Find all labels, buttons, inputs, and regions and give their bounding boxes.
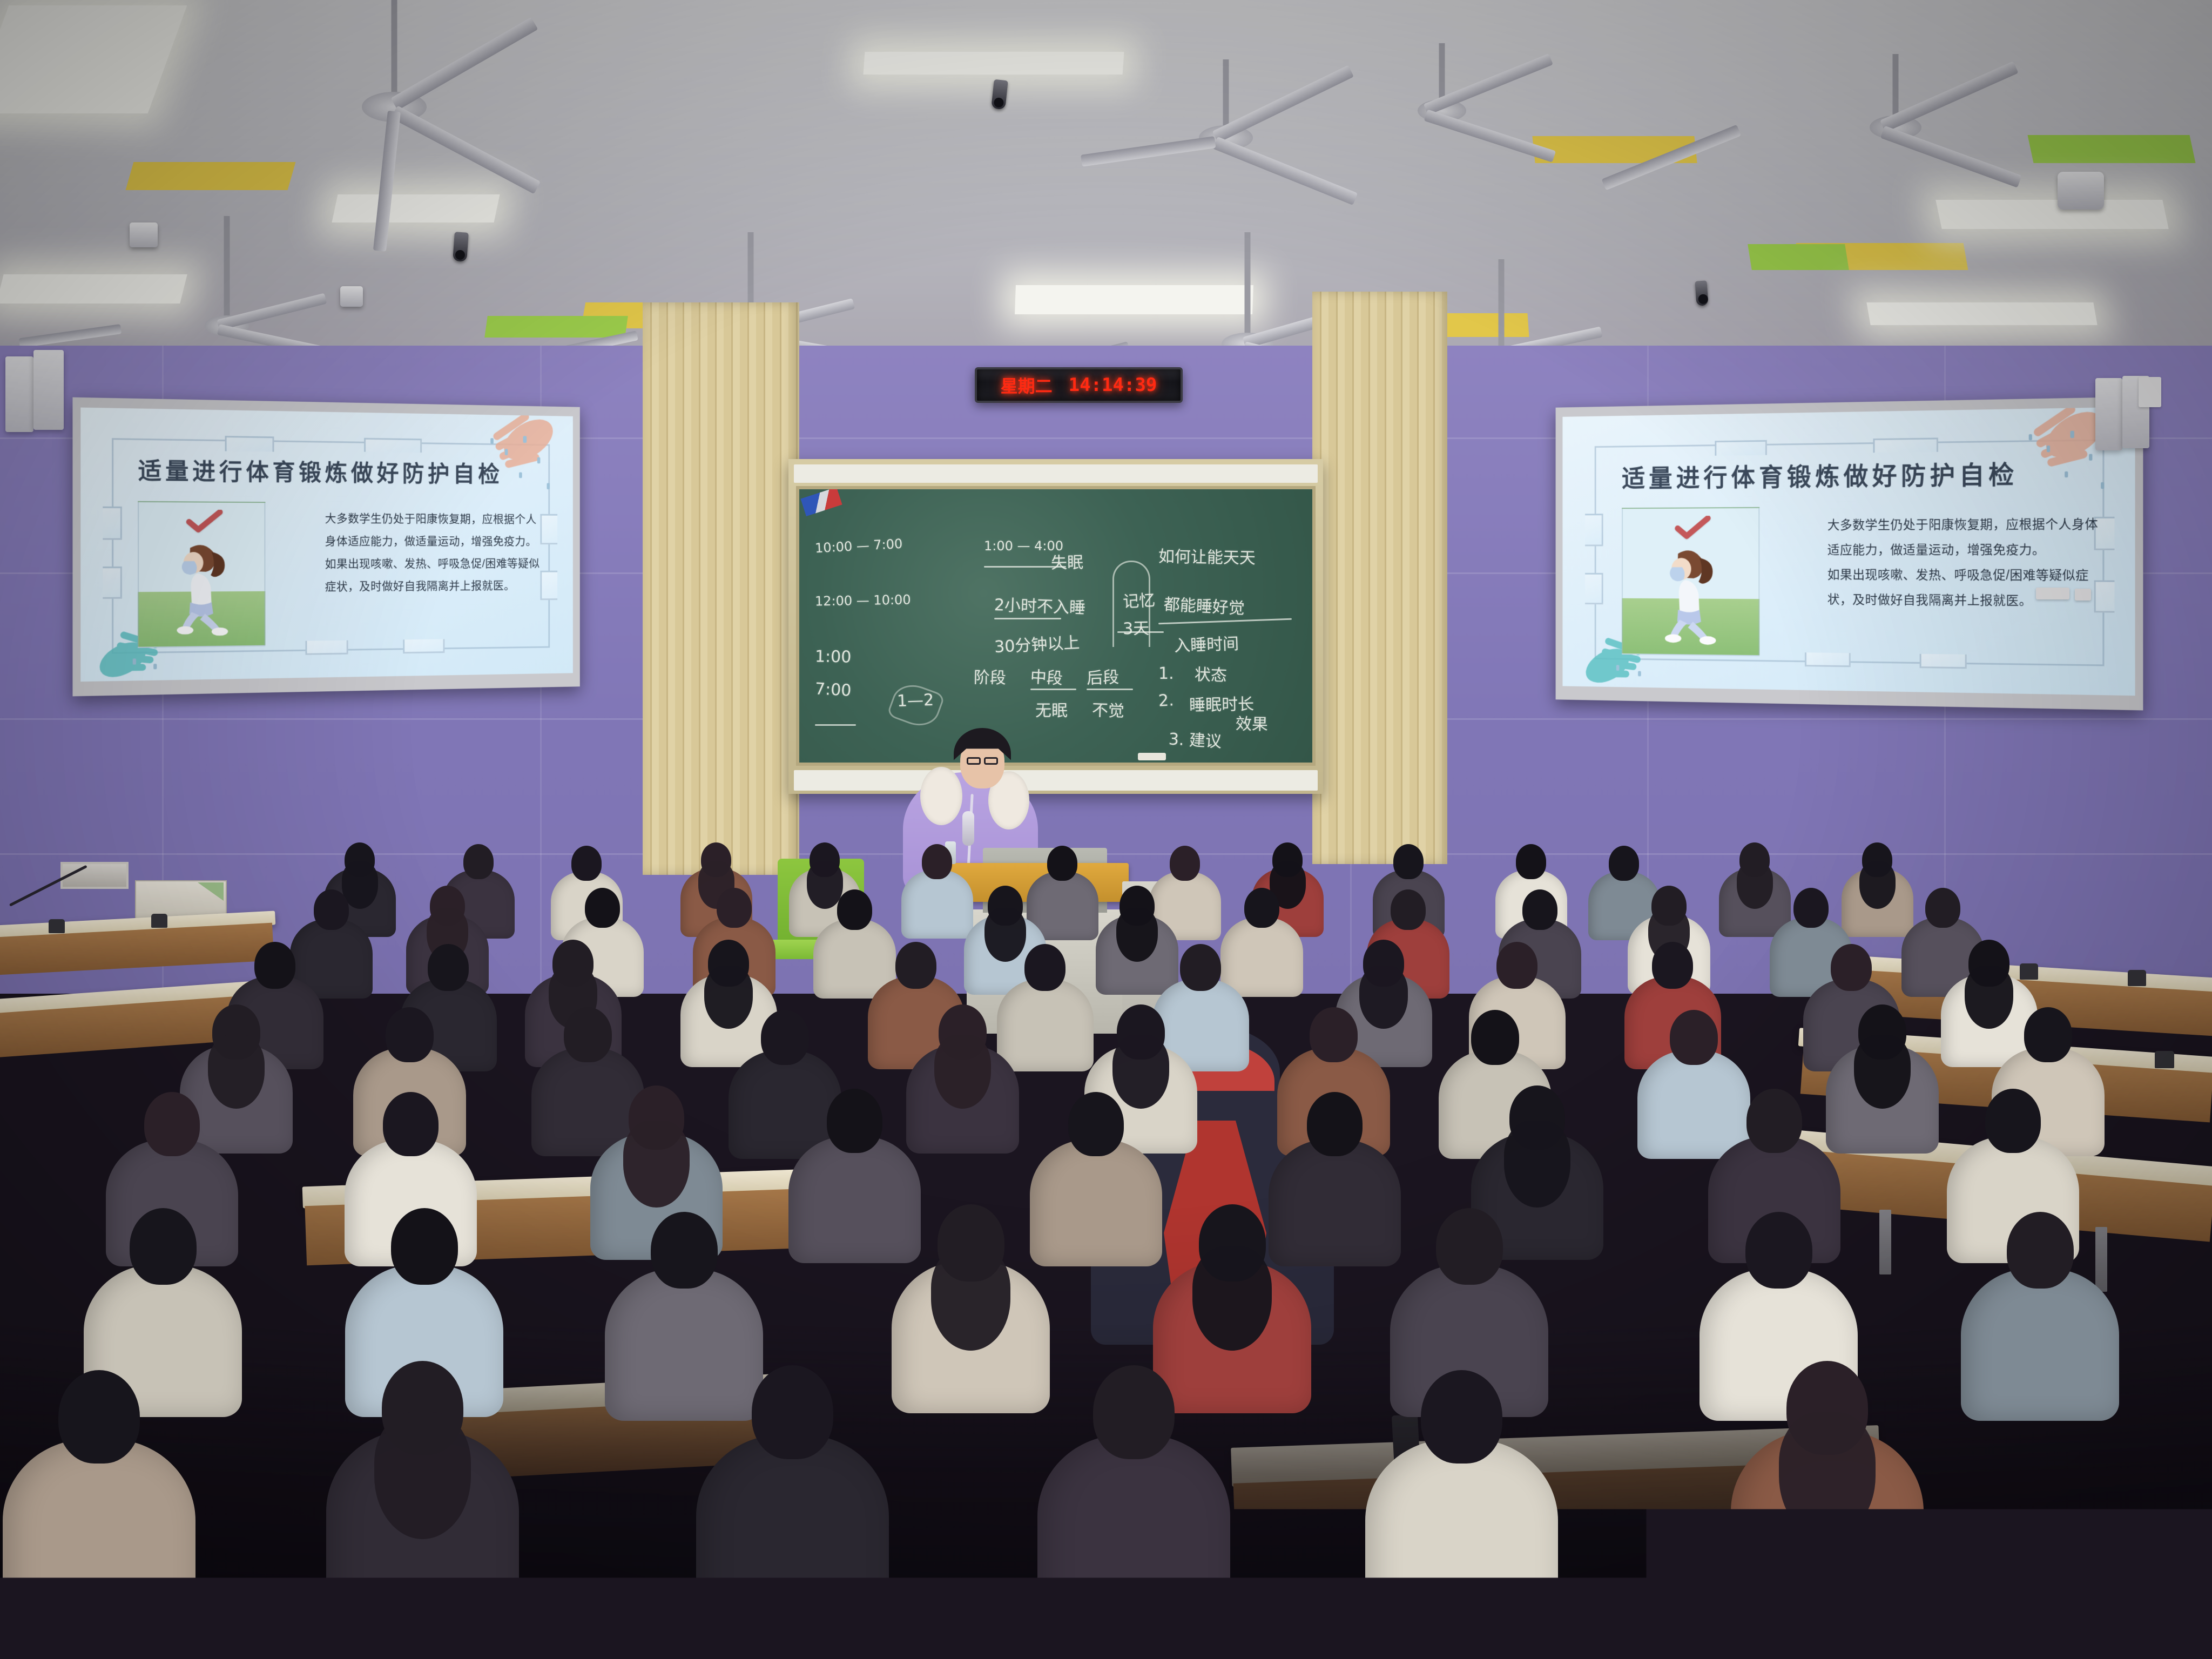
- slide-body-text: 大多数学生仍处于阳康恢复期，应根据个人身体适应能力，做适量运动，增强免疫力。 如…: [325, 508, 545, 598]
- blackboard-bottom-tray: [794, 770, 1318, 791]
- student-head: [752, 1365, 833, 1459]
- student-head: [2024, 1007, 2072, 1062]
- notice-board-corner: [198, 882, 224, 901]
- wall-speaker-left: [5, 356, 33, 432]
- student-head: [1793, 888, 1829, 928]
- student-head: [1745, 1212, 1812, 1289]
- ceiling-fan: [1350, 43, 1534, 178]
- wall-switch-plate[interactable]: [2036, 588, 2069, 599]
- ceiling-fan: [1804, 54, 1987, 189]
- wall-pillar-right: [1312, 292, 1447, 864]
- blackboard-note: 后段: [1086, 664, 1119, 689]
- wall-switch-plate[interactable]: [2075, 589, 2091, 601]
- student-torso: [1365, 1439, 1558, 1624]
- student-head: [1522, 889, 1557, 929]
- security-camera-icon: [453, 232, 469, 262]
- student-seated: [906, 1004, 1019, 1168]
- flag-sticker: [800, 487, 842, 516]
- ceiling-fan: [151, 216, 302, 340]
- blackboard-note: 3. 建议: [1168, 726, 1222, 752]
- student-head: [1093, 1365, 1175, 1459]
- student-head: [651, 1212, 718, 1289]
- blackboard-note: 12:00 — 10:00: [814, 592, 911, 609]
- student-torso: [3, 1439, 195, 1624]
- red-checkmark-icon: [177, 510, 232, 533]
- blackboard-note: 无眠: [1035, 697, 1068, 721]
- student-seated: [326, 1361, 519, 1640]
- student-seated: [1731, 1361, 1924, 1640]
- fluorescent-light-panel: [864, 52, 1124, 75]
- student-long-hair: [1854, 1035, 1911, 1109]
- blackboard-note: 2.: [1158, 691, 1174, 711]
- blackboard-note: 如何让能天天: [1158, 543, 1256, 569]
- ceiling-tile-yellow: [126, 162, 296, 190]
- projection-screen-right: 适量进行体育锻炼做好防护自检: [1556, 397, 2143, 711]
- ceiling-speaker: [340, 286, 363, 307]
- blackboard-note: 7:00: [814, 679, 852, 700]
- student-head: [428, 944, 469, 991]
- student-seated: [1961, 1212, 2119, 1441]
- student-head: [1391, 889, 1426, 929]
- slide-illustration-panel: [1622, 507, 1759, 656]
- student-head: [1047, 846, 1077, 880]
- fluorescent-light-panel: [0, 5, 187, 113]
- blackboard-note: 10:00 — 7:00: [814, 536, 903, 556]
- student-head: [58, 1370, 140, 1464]
- ceiling-fan: [1166, 232, 1328, 356]
- ceiling-fan: [302, 0, 486, 140]
- student-long-hair: [1504, 1121, 1570, 1208]
- student-head: [1652, 942, 1693, 989]
- lecturer-glasses: [967, 757, 981, 765]
- student-head: [2007, 1212, 2074, 1289]
- student-head: [571, 846, 602, 880]
- blackboard-top-trim: [794, 464, 1318, 483]
- student-head: [1024, 944, 1065, 991]
- clock-time: 14:14:39: [1069, 374, 1157, 396]
- student-torso: [901, 870, 973, 939]
- student-head: [1068, 1092, 1124, 1156]
- student-long-hair: [1737, 861, 1773, 908]
- slide-paragraph: 大多数学生仍处于阳康恢复期，应根据个人身体适应能力，做适量运动，增强免疫力。: [325, 508, 545, 553]
- student-seated: [3, 1370, 195, 1649]
- student-head: [827, 1089, 883, 1153]
- ceiling-tile-green: [1748, 244, 1849, 270]
- stretching-woman-illustration: [1647, 544, 1737, 646]
- red-checkmark-icon: [1663, 516, 1723, 539]
- slide-right: 适量进行体育锻炼做好防护自检: [1562, 407, 2135, 696]
- led-clock-display: 星期二 14:14:39: [975, 367, 1183, 403]
- student-head: [1471, 1010, 1519, 1065]
- student-seated: [1826, 1004, 1939, 1168]
- student-head: [1496, 942, 1537, 989]
- student-long-hair: [374, 1412, 471, 1539]
- blackboard-note: 不觉: [1091, 697, 1124, 721]
- projection-screen-left: 适量进行体育锻炼做好防护自检: [72, 397, 579, 697]
- student-head: [314, 889, 349, 929]
- slide-paragraph: 如果出现咳嗽、发热、呼吸急促/困难等疑似症状，及时做好自我隔离并上报就医。: [325, 552, 545, 598]
- blackboard-note: 失眠: [1050, 549, 1083, 574]
- student-head: [1421, 1370, 1502, 1464]
- blackboard-note: 中段: [1029, 663, 1063, 689]
- student-head: [837, 889, 872, 929]
- student-head: [383, 1092, 439, 1156]
- student-head: [922, 844, 952, 879]
- ceiling-speaker: [2058, 172, 2104, 210]
- wall-outlet-plate[interactable]: [2139, 377, 2161, 407]
- student-head: [1310, 1007, 1358, 1062]
- blackboard-note: 效果: [1235, 710, 1268, 734]
- student-torso: [1961, 1269, 2119, 1421]
- security-camera-icon: [991, 79, 1008, 110]
- student-head: [386, 1007, 434, 1062]
- slide-title: 适量进行体育锻炼做好防护自检: [138, 452, 517, 489]
- clock-weekday: 星期二: [1001, 373, 1053, 397]
- student-head: [1516, 844, 1546, 879]
- student-long-hair: [1116, 908, 1158, 962]
- student-seated: [696, 1365, 889, 1644]
- student-torso: [696, 1435, 889, 1620]
- student-head: [463, 844, 494, 879]
- blackboard-note: 2小时不入睡: [994, 591, 1086, 618]
- student-torso: [1037, 1435, 1230, 1620]
- student-head: [254, 942, 295, 989]
- fluorescent-light-panel: [332, 194, 500, 222]
- student-seated: [892, 1204, 1050, 1433]
- blackboard-note: 30分钟以上: [994, 629, 1080, 657]
- student-head: [1307, 1092, 1363, 1156]
- wall-pillar-left: [643, 302, 799, 875]
- student-head: [1393, 844, 1424, 879]
- blackboard-note: 1.: [1158, 664, 1174, 683]
- classroom-photo: 适量进行体育锻炼做好防护自检: [0, 0, 2212, 1659]
- slide-paragraph: 大多数学生仍处于阳康恢复期，应根据个人身体适应能力，做适量运动，增强免疫力。: [1827, 511, 2099, 562]
- student-head: [1180, 944, 1221, 991]
- student-long-hair: [931, 1246, 1010, 1351]
- student-head: [564, 1007, 612, 1062]
- wall-speaker-left: [33, 350, 64, 430]
- security-camera-icon: [1695, 280, 1708, 306]
- student-head: [1925, 888, 1960, 928]
- student-head: [1831, 944, 1872, 991]
- student-head: [1170, 846, 1200, 880]
- student-head: [1985, 1089, 2041, 1153]
- student-head: [130, 1208, 197, 1285]
- student-long-hair: [1779, 1412, 1876, 1539]
- handheld-microphone: [962, 811, 974, 846]
- student-long-hair: [623, 1121, 690, 1208]
- blackboard-note: 1:00: [814, 648, 851, 667]
- ceiling-fan: [1134, 59, 1318, 200]
- student-head: [895, 942, 936, 989]
- blackboard: 10:00 — 7:0012:00 — 10:001:007:001—21:00…: [788, 459, 1323, 794]
- student-seated: [1365, 1370, 1558, 1649]
- student-head: [1244, 888, 1279, 928]
- ceiling: [0, 0, 2212, 378]
- student-head: [761, 1010, 809, 1065]
- slide-illustration-panel: [138, 501, 266, 648]
- student-head: [1609, 846, 1639, 880]
- student-head: [1746, 1089, 1803, 1153]
- lecturer-glasses: [984, 757, 998, 765]
- blackboard-note: 状态: [1194, 661, 1227, 686]
- student-head: [391, 1208, 458, 1285]
- student-head: [585, 888, 620, 928]
- lecturer-fur-collar: [920, 767, 962, 825]
- student-seated: [1037, 1365, 1230, 1644]
- student-head: [717, 888, 752, 928]
- stretching-woman-illustration: [162, 537, 245, 638]
- blackboard-surface: 10:00 — 7:0012:00 — 10:001:007:001—21:00…: [796, 486, 1316, 766]
- blackboard-note: 阶段: [974, 664, 1007, 688]
- student-head: [1436, 1208, 1503, 1285]
- blackboard-note: 都能睡好觉: [1163, 591, 1245, 619]
- student-head: [144, 1092, 200, 1156]
- blackboard-note: 入睡时间: [1174, 630, 1239, 656]
- ceiling-tile-green: [484, 316, 628, 338]
- student-long-hair: [934, 1035, 991, 1109]
- student-long-hair: [1859, 861, 1896, 908]
- student-head: [1670, 1010, 1718, 1065]
- wall-speaker-right: [2095, 378, 2122, 450]
- fluorescent-light-panel: [1935, 200, 2168, 229]
- slide-title: 适量进行体育锻炼做好防护自检: [1622, 454, 2062, 494]
- student-long-hair: [1192, 1246, 1272, 1351]
- ceiling-tile-green: [2027, 135, 2195, 163]
- slide-left: 适量进行体育锻炼做好防护自检: [80, 408, 573, 682]
- student-seated: [901, 844, 973, 948]
- fluorescent-light-panel: [1866, 302, 2097, 325]
